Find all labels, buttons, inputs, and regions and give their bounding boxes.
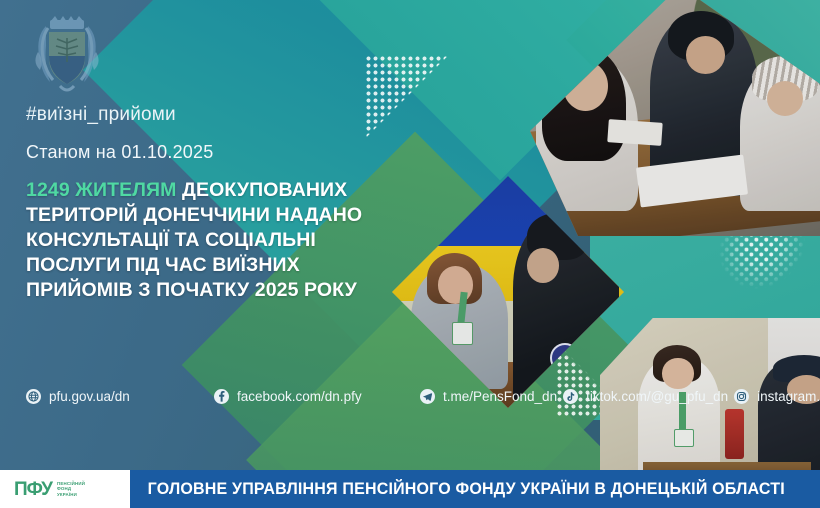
- poster-canvas: #виїзні_прийоми Станом на 01.10.2025 124…: [0, 0, 820, 508]
- instagram-icon: [734, 389, 749, 404]
- social-link-label: t.me/PensFond_dn: [443, 389, 557, 404]
- donetsk-oblast-coat-of-arms-icon: [30, 12, 104, 96]
- pfu-logo-subtitle: ПЕНСІЙНИЙ ФОНД УКРАЇНИ: [57, 481, 85, 498]
- footer-bar: ПФУ ПЕНСІЙНИЙ ФОНД УКРАЇНИ ГОЛОВНЕ УПРАВ…: [0, 470, 820, 508]
- pfu-logo[interactable]: ПФУ ПЕНСІЙНИЙ ФОНД УКРАЇНИ: [0, 470, 130, 508]
- tiktok-icon: [563, 389, 578, 404]
- footer-organization-title: ГОЛОВНЕ УПРАВЛІННЯ ПЕНСІЙНОГО ФОНДУ УКРА…: [140, 480, 809, 499]
- social-link-label: instagram.com/gu.pfu.dn: [757, 389, 820, 404]
- social-links-list: pfu.gov.ua/dn facebook.com/dn.pfy: [26, 386, 820, 407]
- headline-text: 1249 ЖИТЕЛЯМ ДЕОКУПОВАНИХ ТЕРИТОРІЙ ДОНЕ…: [26, 178, 378, 303]
- telegram-icon: [420, 389, 435, 404]
- globe-icon: [26, 389, 41, 404]
- social-link-telegram[interactable]: t.me/PensFond_dn: [420, 386, 557, 407]
- social-link-label: facebook.com/dn.pfy: [237, 389, 362, 404]
- social-link-instagram[interactable]: instagram.com/gu.pfu.dn: [734, 386, 820, 407]
- poster-content: #виїзні_прийоми Станом на 01.10.2025 124…: [0, 0, 820, 508]
- date-text: Станом на 01.10.2025: [26, 142, 213, 163]
- facebook-icon: [214, 389, 229, 404]
- social-link-tiktok[interactable]: tiktok.com/@gu_pfu_dn: [563, 386, 728, 407]
- social-link-facebook[interactable]: facebook.com/dn.pfy: [214, 386, 414, 407]
- headline-accent-number: 1249 ЖИТЕЛЯМ: [26, 179, 177, 201]
- social-link-label: pfu.gov.ua/dn: [49, 389, 130, 404]
- social-link-website[interactable]: pfu.gov.ua/dn: [26, 386, 208, 407]
- hashtag-text: #виїзні_прийоми: [26, 104, 176, 126]
- pfu-logo-mark: ПФУ: [14, 480, 52, 499]
- social-link-label: tiktok.com/@gu_pfu_dn: [586, 389, 728, 404]
- pfu-logo-sub-line-3: УКРАЇНИ: [57, 492, 85, 498]
